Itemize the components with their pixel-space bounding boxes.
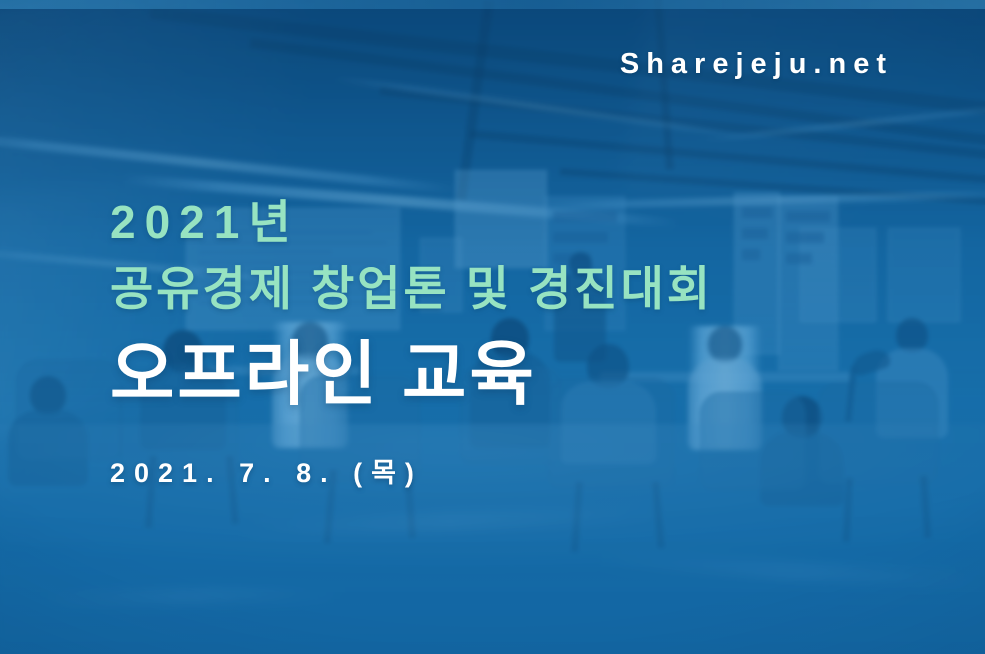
headline-block: 2021년 공유경제 창업톤 및 경진대회 오프라인 교육 2021. 7. 8… xyxy=(110,198,910,490)
brand-wordmark: Sharejeju.net xyxy=(620,48,893,81)
event-main-title: 오프라인 교육 xyxy=(110,335,910,413)
event-year: 2021년 xyxy=(110,198,910,248)
event-subtitle: 공유경제 창업톤 및 경진대회 xyxy=(110,260,910,317)
event-poster: Sharejeju.net 2021년 공유경제 창업톤 및 경진대회 오프라인… xyxy=(0,0,985,654)
poster-content: Sharejeju.net 2021년 공유경제 창업톤 및 경진대회 오프라인… xyxy=(0,0,985,654)
event-date: 2021. 7. 8. (목) xyxy=(110,451,910,490)
